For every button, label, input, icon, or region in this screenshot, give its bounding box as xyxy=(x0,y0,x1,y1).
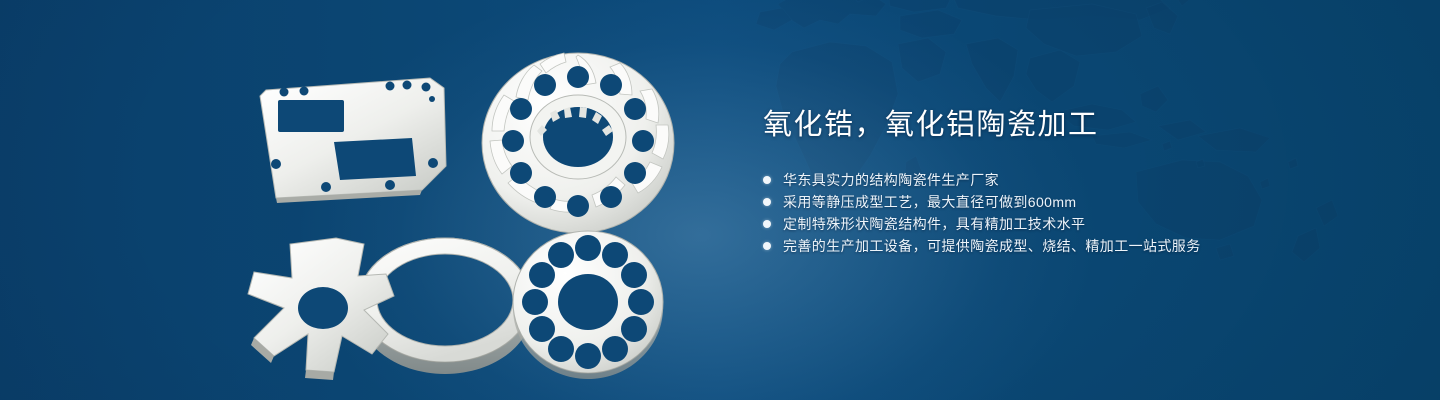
banner-copy: 氧化锆，氧化铝陶瓷加工 华东具实力的结构陶瓷件生产厂家 采用等静压成型工艺，最大… xyxy=(763,104,1383,254)
bullet-circle-icon xyxy=(763,220,771,228)
list-item-label: 华东具实力的结构陶瓷件生产厂家 xyxy=(783,172,999,188)
list-item-label: 采用等静压成型工艺，最大直径可做到600mm xyxy=(783,194,1076,210)
ceramic-machined-plate xyxy=(260,78,446,203)
list-item: 完善的生产加工设备，可提供陶瓷成型、烧结、精加工一站式服务 xyxy=(763,238,1383,254)
ceramic-ring xyxy=(359,238,531,374)
ceramic-products-image xyxy=(230,30,730,380)
banner-feature-list: 华东具实力的结构陶瓷件生产厂家 采用等静压成型工艺，最大直径可做到600mm 定… xyxy=(763,172,1383,254)
list-item: 采用等静压成型工艺，最大直径可做到600mm xyxy=(763,194,1383,210)
list-item: 华东具实力的结构陶瓷件生产厂家 xyxy=(763,172,1383,188)
banner-hero: 氧化锆，氧化铝陶瓷加工 华东具实力的结构陶瓷件生产厂家 采用等静压成型工艺，最大… xyxy=(0,0,1440,400)
bullet-circle-icon xyxy=(763,198,771,206)
list-item-label: 定制特殊形状陶瓷结构件，具有精加工技术水平 xyxy=(783,216,1085,232)
list-item: 定制特殊形状陶瓷结构件，具有精加工技术水平 xyxy=(763,216,1383,232)
bullet-circle-icon xyxy=(763,242,771,250)
list-item-label: 完善的生产加工设备，可提供陶瓷成型、烧结、精加工一站式服务 xyxy=(783,238,1201,254)
banner-title: 氧化锆，氧化铝陶瓷加工 xyxy=(763,104,1383,146)
ceramic-impeller-disc xyxy=(482,53,674,233)
bullet-circle-icon xyxy=(763,176,771,184)
ceramic-perforated-disc xyxy=(513,231,663,379)
